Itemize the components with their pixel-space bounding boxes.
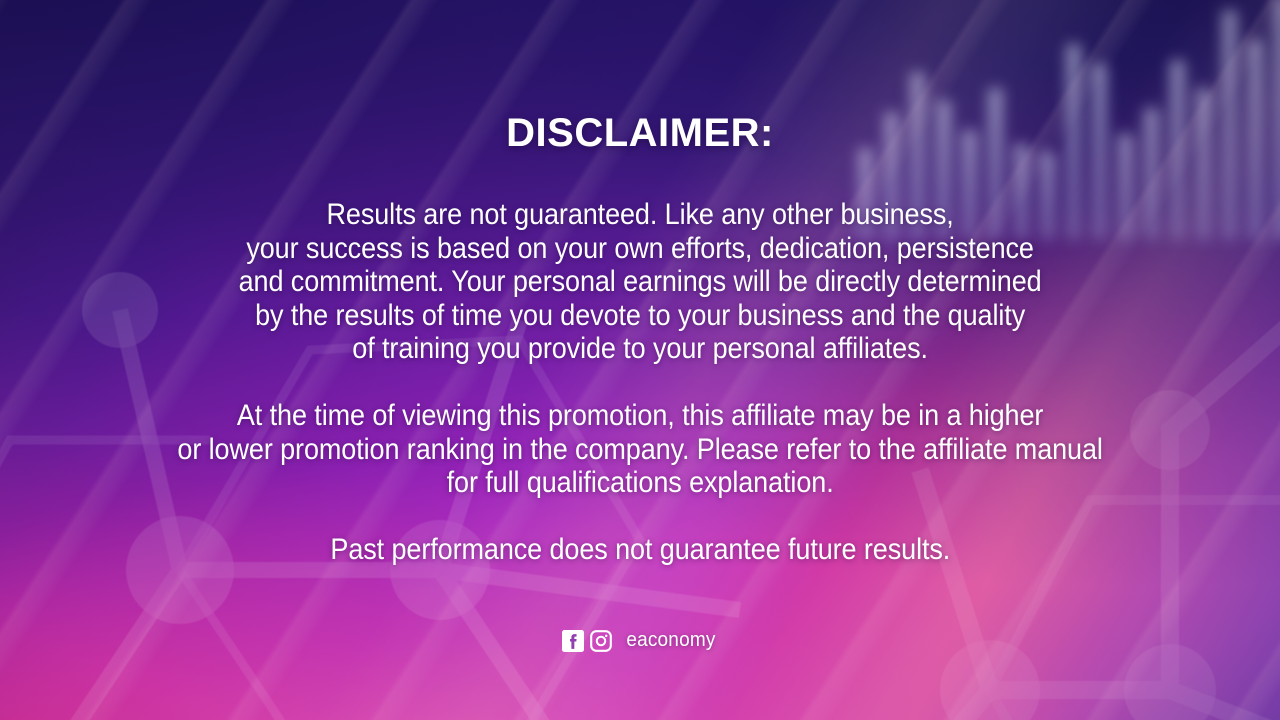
social-footer: eaconomy (562, 629, 718, 652)
disclaimer-paragraph-1: Results are not guaranteed. Like any oth… (239, 198, 1042, 366)
disclaimer-paragraph-3: Past performance does not guarantee futu… (330, 533, 950, 567)
instagram-icon[interactable] (590, 630, 612, 652)
page-title: DISCLAIMER: (506, 113, 774, 153)
slide-content: DISCLAIMER: Results are not guaranteed. … (0, 0, 1280, 720)
disclaimer-slide: DISCLAIMER: Results are not guaranteed. … (0, 0, 1280, 720)
facebook-icon[interactable] (562, 630, 584, 652)
social-handle[interactable]: eaconomy (626, 629, 715, 652)
disclaimer-paragraph-2: At the time of viewing this promotion, t… (177, 399, 1102, 500)
